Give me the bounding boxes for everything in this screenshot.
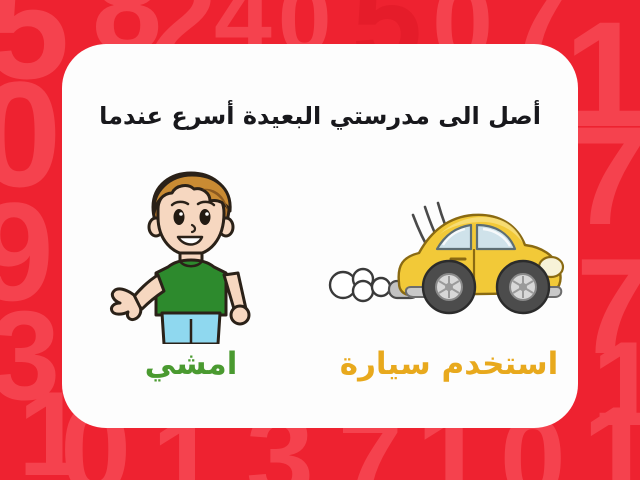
answer-option-walk[interactable]: امشي — [62, 169, 320, 419]
answer-label-car: استخدم سيارة — [320, 347, 578, 383]
quiz-card: أصل الى مدرستي البعيدة أسرع عندما — [62, 44, 578, 428]
bg-numeral: 7 — [570, 120, 640, 232]
walking-boy-illustration — [62, 169, 320, 349]
answer-label-walk: امشي — [62, 347, 320, 383]
yellow-car-illustration — [320, 169, 578, 349]
bg-numeral: 1 — [592, 336, 640, 432]
question-text: أصل الى مدرستي البعيدة أسرع عندما — [62, 102, 578, 130]
quiz-screen: 5 8 2 4 0 5 0 7 1 0 9 3 1 0 1 3 7 1 0 1 … — [0, 0, 640, 480]
answer-options: امشي — [62, 169, 578, 419]
answer-option-car[interactable]: استخدم سيارة — [320, 169, 578, 419]
